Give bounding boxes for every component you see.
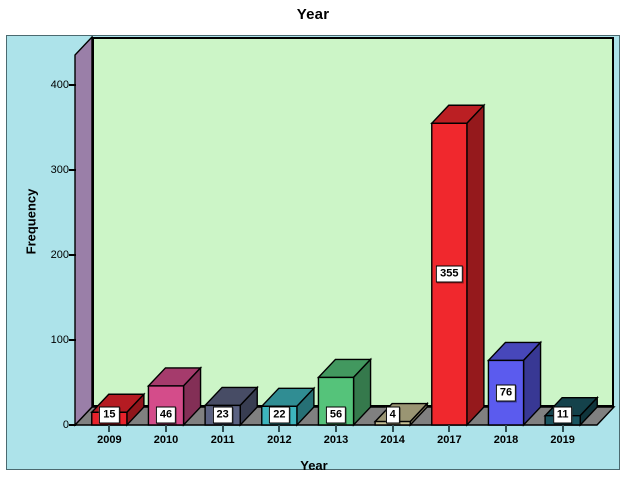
x-tick-label: 2019 xyxy=(550,434,574,446)
bar-value-label: 355 xyxy=(436,266,462,283)
y-tick-mark xyxy=(69,424,76,426)
x-tick-mark xyxy=(505,425,507,432)
x-tick-label: 2011 xyxy=(211,434,235,446)
x-tick-label: 2012 xyxy=(267,434,291,446)
x-tick-mark xyxy=(562,425,564,432)
plot-left-wall xyxy=(75,37,92,425)
bar-value-label: 11 xyxy=(553,407,573,424)
x-tick-mark xyxy=(448,425,450,432)
bar-value-label: 22 xyxy=(269,407,289,424)
x-tick-label: 2017 xyxy=(437,434,461,446)
y-tick-label: 0 xyxy=(23,419,69,431)
x-tick-mark xyxy=(392,425,394,432)
x-tick-label: 2014 xyxy=(380,434,404,446)
x-axis: 200920102011201220132014201720182019 xyxy=(7,434,621,454)
x-tick-label: 2010 xyxy=(154,434,178,446)
chart-screenshot: Year 0100200300400 Frequency 20092010201… xyxy=(0,0,626,501)
y-tick-mark xyxy=(69,254,76,256)
bar-value-label: 23 xyxy=(213,407,233,424)
y-tick-mark xyxy=(69,84,76,86)
x-tick-mark xyxy=(335,425,337,432)
y-axis-title: Frequency xyxy=(24,142,39,302)
y-tick-label: 100 xyxy=(23,334,69,346)
bar-value-label: 76 xyxy=(496,384,516,401)
bar-value-label: 15 xyxy=(99,407,119,424)
x-tick-mark xyxy=(108,425,110,432)
x-tick-mark xyxy=(278,425,280,432)
bar-side-2017 xyxy=(467,105,484,425)
x-tick-mark xyxy=(165,425,167,432)
y-tick-label: 400 xyxy=(23,79,69,91)
bar-value-label: 56 xyxy=(326,407,346,424)
x-tick-label: 2009 xyxy=(97,434,121,446)
x-tick-label: 2013 xyxy=(324,434,348,446)
x-tick-label: 2018 xyxy=(494,434,518,446)
chart-outer-frame: 0100200300400 Frequency 2009201020112012… xyxy=(6,35,620,470)
bar-value-label: 4 xyxy=(386,407,400,424)
bar-value-label: 46 xyxy=(156,407,176,424)
y-tick-mark xyxy=(69,339,76,341)
x-axis-title: Year xyxy=(7,458,621,473)
y-tick-mark xyxy=(69,169,76,171)
page-title: Year xyxy=(0,6,626,23)
x-tick-mark xyxy=(222,425,224,432)
